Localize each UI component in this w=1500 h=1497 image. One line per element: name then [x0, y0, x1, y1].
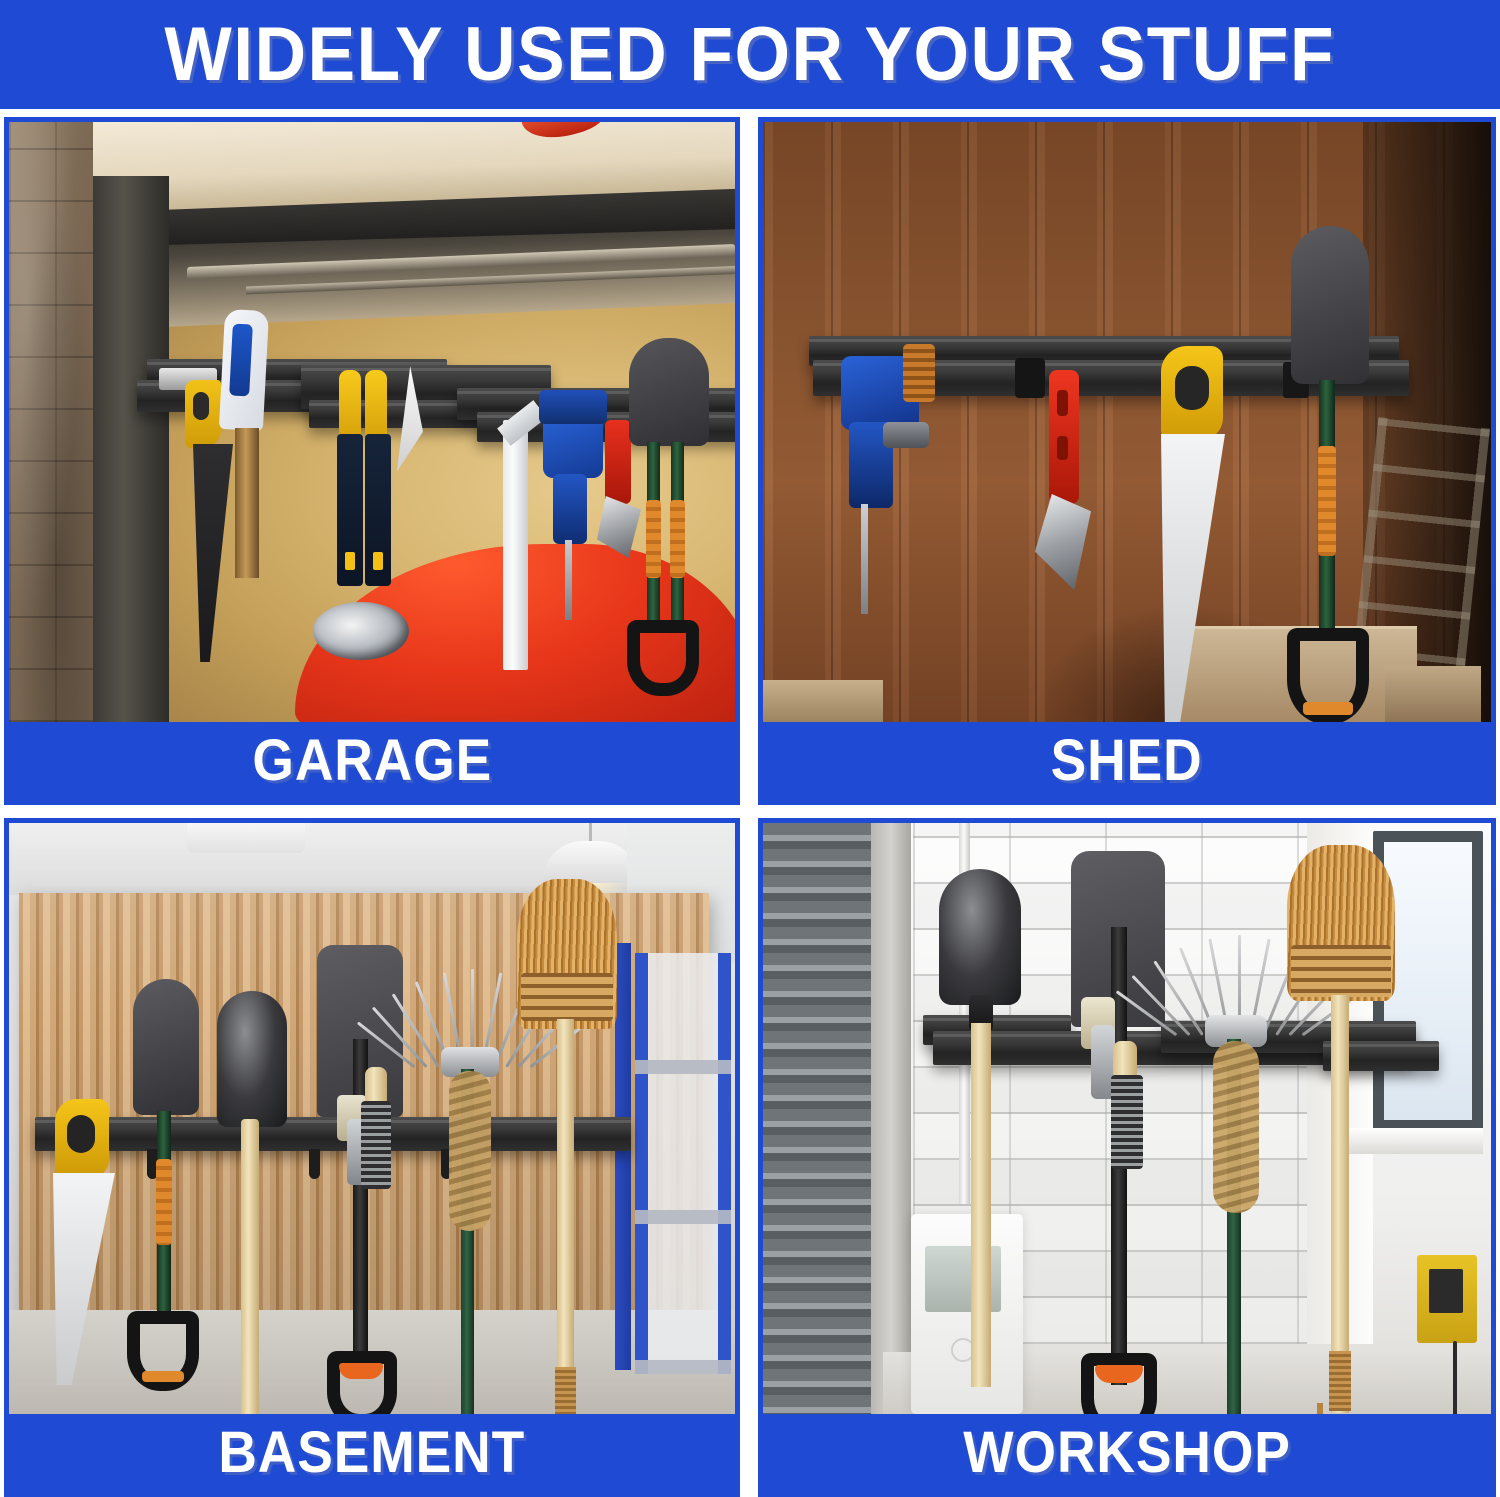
spade-grip-shed — [1318, 446, 1336, 556]
fan-rake-rope-workshop — [1213, 1041, 1259, 1213]
wrench-handle-hole-2-shed — [1057, 436, 1068, 460]
photo-basement — [9, 823, 735, 1414]
hand-saw-grip-hole-basement — [67, 1115, 95, 1153]
caption-label-garage: GARAGE — [252, 732, 492, 790]
shelving-post — [615, 943, 631, 1370]
screwdriver-2-cap-garage — [365, 370, 387, 436]
folding-ruler-garage — [503, 420, 528, 670]
broom-binding-workshop — [1291, 945, 1391, 997]
broom-handle-basement — [557, 1019, 574, 1414]
yellow-electrical-device — [1417, 1255, 1477, 1343]
drill-top-garage — [539, 390, 607, 424]
panel-workshop[interactable]: WORKSHOP — [758, 818, 1496, 1497]
wire-brush-bristles-workshop — [1111, 1075, 1143, 1169]
power-tool-shaft-garage — [235, 428, 259, 578]
garage-stone-wall — [9, 122, 93, 722]
panel-cell-workshop: WORKSHOP — [749, 809, 1500, 1497]
spade-d-handle-garage — [627, 620, 699, 696]
drill-chuck-shed — [883, 422, 929, 448]
fan-rake-rope-basement — [449, 1071, 491, 1231]
page-title: WIDELY USED FOR YOUR STUFF — [165, 17, 1336, 93]
hand-saw-grip-hole-garage — [193, 392, 209, 420]
panel-cell-garage: GARAGE — [0, 113, 749, 809]
caption-basement: BASEMENT — [9, 1414, 735, 1492]
blue-shelving-unit — [635, 953, 731, 1374]
panel-shed[interactable]: SHED — [758, 117, 1496, 805]
round-shovel-handle-basement — [241, 1119, 259, 1414]
drill-bit-garage — [565, 540, 572, 620]
screwdriver-1-mark-garage — [345, 552, 355, 570]
spade-blade-basement — [133, 979, 199, 1115]
broom-binding-basement — [521, 973, 613, 1021]
square-shovel-orange-insert-workshop — [1095, 1365, 1143, 1383]
wall-heater-unit — [911, 1214, 1023, 1414]
round-shovel-blade-basement — [217, 991, 287, 1127]
broom-hook-workshop — [1317, 1403, 1351, 1414]
rail-hook-shed-1 — [1015, 358, 1045, 398]
drill-grip-garage — [553, 474, 587, 544]
caption-workshop: WORKSHOP — [763, 1414, 1491, 1492]
spade-d-grip-pad-shed — [1303, 702, 1353, 715]
ceiling-vent — [187, 823, 305, 853]
round-shovel-handle-workshop — [971, 1023, 991, 1387]
panel-basement[interactable]: BASEMENT — [4, 818, 740, 1497]
scene-grid: GARAGE — [0, 113, 1500, 1497]
wrench-handle-hole-1-shed — [1057, 390, 1068, 416]
round-shovel-blade-workshop — [939, 869, 1021, 1005]
product-infographic: WIDELY USED FOR YOUR STUFF — [0, 0, 1500, 1497]
caption-label-shed: SHED — [1051, 732, 1203, 790]
header-banner: WIDELY USED FOR YOUR STUFF — [0, 0, 1500, 109]
cardboard-box-small — [1385, 666, 1481, 722]
photo-workshop — [763, 823, 1491, 1414]
spade-d-grip-pad-basement — [142, 1371, 184, 1382]
panel-cell-basement: BASEMENT — [0, 809, 749, 1497]
caption-garage: GARAGE — [9, 722, 735, 800]
spade-grip-basement — [156, 1159, 172, 1245]
panel-cell-shed: SHED — [749, 113, 1500, 809]
window-ledge — [1347, 1128, 1483, 1154]
panel-garage[interactable]: GARAGE — [4, 117, 740, 805]
photo-shed — [763, 122, 1491, 722]
device-cable — [1453, 1341, 1457, 1414]
spade-blade-shed — [1291, 226, 1369, 384]
rail-hook-basement-2 — [309, 1149, 320, 1179]
drill-cord-shed — [903, 344, 935, 402]
caption-shed: SHED — [763, 722, 1491, 800]
photo-garage — [9, 122, 735, 722]
wire-brush-bristles-basement — [361, 1101, 391, 1189]
square-shovel-d-handle-workshop — [1081, 1353, 1157, 1414]
screwdriver-2-mark-garage — [373, 552, 383, 570]
door-jamb — [871, 823, 911, 1414]
shed-floor — [763, 680, 883, 722]
hand-saw-grip-hole-shed — [1175, 366, 1209, 410]
spade-grip-1-garage — [646, 500, 661, 578]
caption-label-workshop: WORKSHOP — [963, 1424, 1291, 1482]
device-screen — [1429, 1269, 1463, 1313]
spade-grip-2-garage — [670, 500, 685, 578]
drill-bit-shed — [861, 504, 868, 614]
broom-handle-wrap-basement — [555, 1367, 576, 1414]
wrench-handle-garage — [605, 420, 631, 504]
tool-rail-basement — [35, 1117, 631, 1151]
power-tool-stripe-garage — [229, 324, 253, 397]
square-shovel-d-handle-basement — [327, 1351, 397, 1414]
caption-label-basement: BASEMENT — [219, 1424, 526, 1482]
spade-blade-garage — [629, 338, 709, 446]
garage-door-frame — [93, 176, 169, 722]
broom-handle-wrap-workshop — [1329, 1351, 1351, 1411]
square-shovel-orange-insert-basement — [339, 1363, 383, 1379]
car-headlight — [313, 602, 409, 660]
screwdriver-1-cap-garage — [339, 370, 361, 436]
roller-shutter-door — [763, 823, 871, 1414]
